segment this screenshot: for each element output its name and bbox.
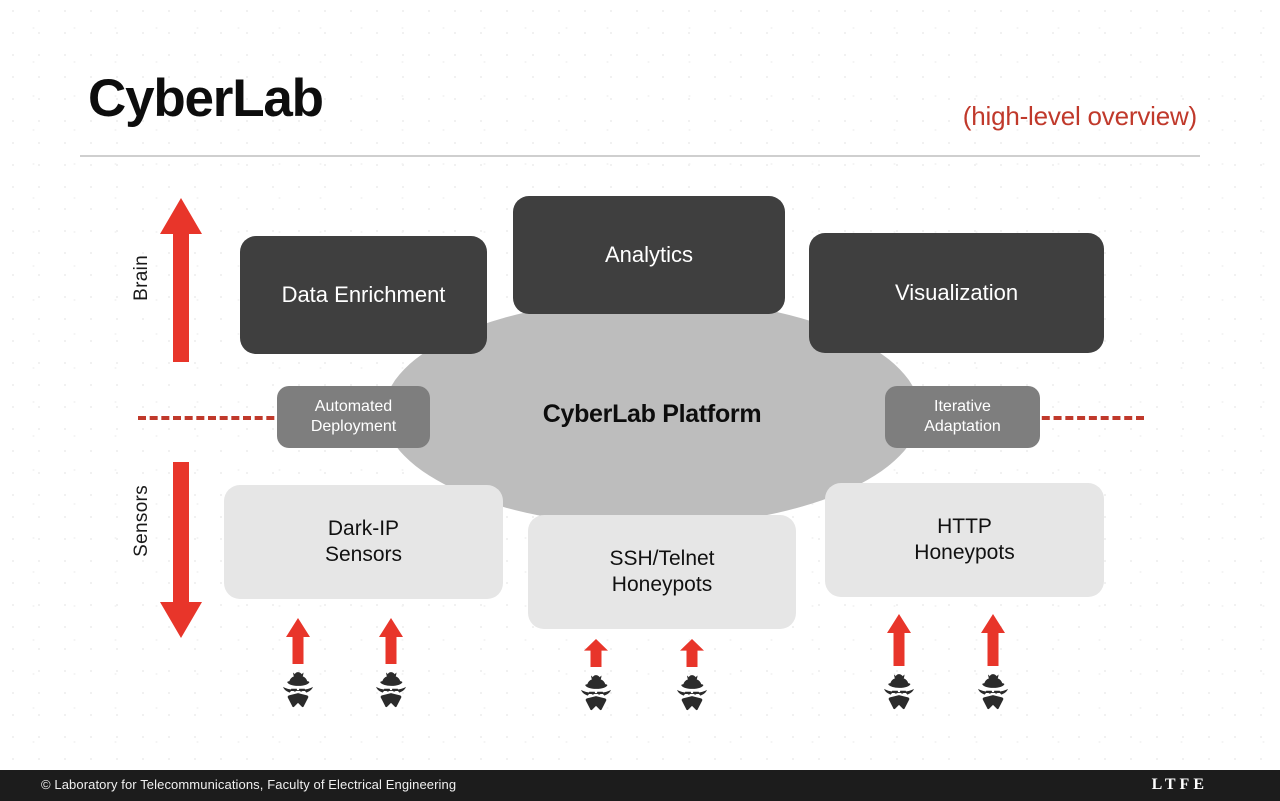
attacker-column — [876, 613, 922, 711]
slide-header: CyberLab (high-level overview) — [80, 78, 1200, 158]
slide-canvas: CyberLab (high-level overview) Brain Sen… — [0, 0, 1280, 801]
brain-box-data-enrichment[interactable]: Data Enrichment — [240, 236, 487, 354]
arrow-up-icon — [980, 613, 1006, 667]
cyberlab-platform-label: CyberLab Platform — [384, 400, 920, 429]
spy-icon — [576, 672, 616, 712]
brain-box-analytics[interactable]: Analytics — [513, 196, 785, 314]
page-title: CyberLab — [88, 72, 323, 125]
ltfe-logo: LTFE — [1152, 776, 1208, 794]
arrow-up-icon — [285, 617, 311, 665]
footer-copyright: © Laboratory for Telecommunications, Fac… — [41, 777, 456, 792]
spy-icon — [973, 671, 1013, 711]
side-box-iterative-adaptation[interactable]: Iterative Adaptation — [885, 386, 1040, 448]
attacker-column — [368, 617, 414, 709]
arrow-up-icon — [378, 617, 404, 665]
sensor-box-dark-ip-sensors[interactable]: Dark-IP Sensors — [224, 485, 503, 599]
axis-label-brain: Brain — [131, 255, 153, 301]
spy-icon — [278, 669, 318, 709]
axis-label-sensors: Sensors — [131, 485, 153, 557]
sensor-box-http-honeypots[interactable]: HTTP Honeypots — [825, 483, 1104, 597]
side-box-automated-deployment[interactable]: Automated Deployment — [277, 386, 430, 448]
arrow-up-icon — [679, 638, 705, 668]
page-subtitle: (high-level overview) — [963, 101, 1197, 132]
arrow-up-icon — [158, 196, 204, 364]
spy-icon — [672, 672, 712, 712]
attacker-column — [970, 613, 1016, 711]
sensor-box-ssh-telnet-honeypots[interactable]: SSH/Telnet Honeypots — [528, 515, 796, 629]
attacker-column — [573, 638, 619, 712]
attacker-column — [669, 638, 715, 712]
slide-footer: © Laboratory for Telecommunications, Fac… — [0, 770, 1280, 801]
header-divider-rule — [80, 155, 1200, 157]
arrow-up-icon — [583, 638, 609, 668]
spy-icon — [371, 669, 411, 709]
arrow-up-icon — [886, 613, 912, 667]
arrow-down-icon — [158, 460, 204, 640]
attacker-column — [275, 617, 321, 709]
brain-sensor-divider-left — [138, 416, 286, 420]
brain-box-visualization[interactable]: Visualization — [809, 233, 1104, 353]
spy-icon — [879, 671, 919, 711]
brain-sensor-divider-right — [1030, 416, 1144, 420]
